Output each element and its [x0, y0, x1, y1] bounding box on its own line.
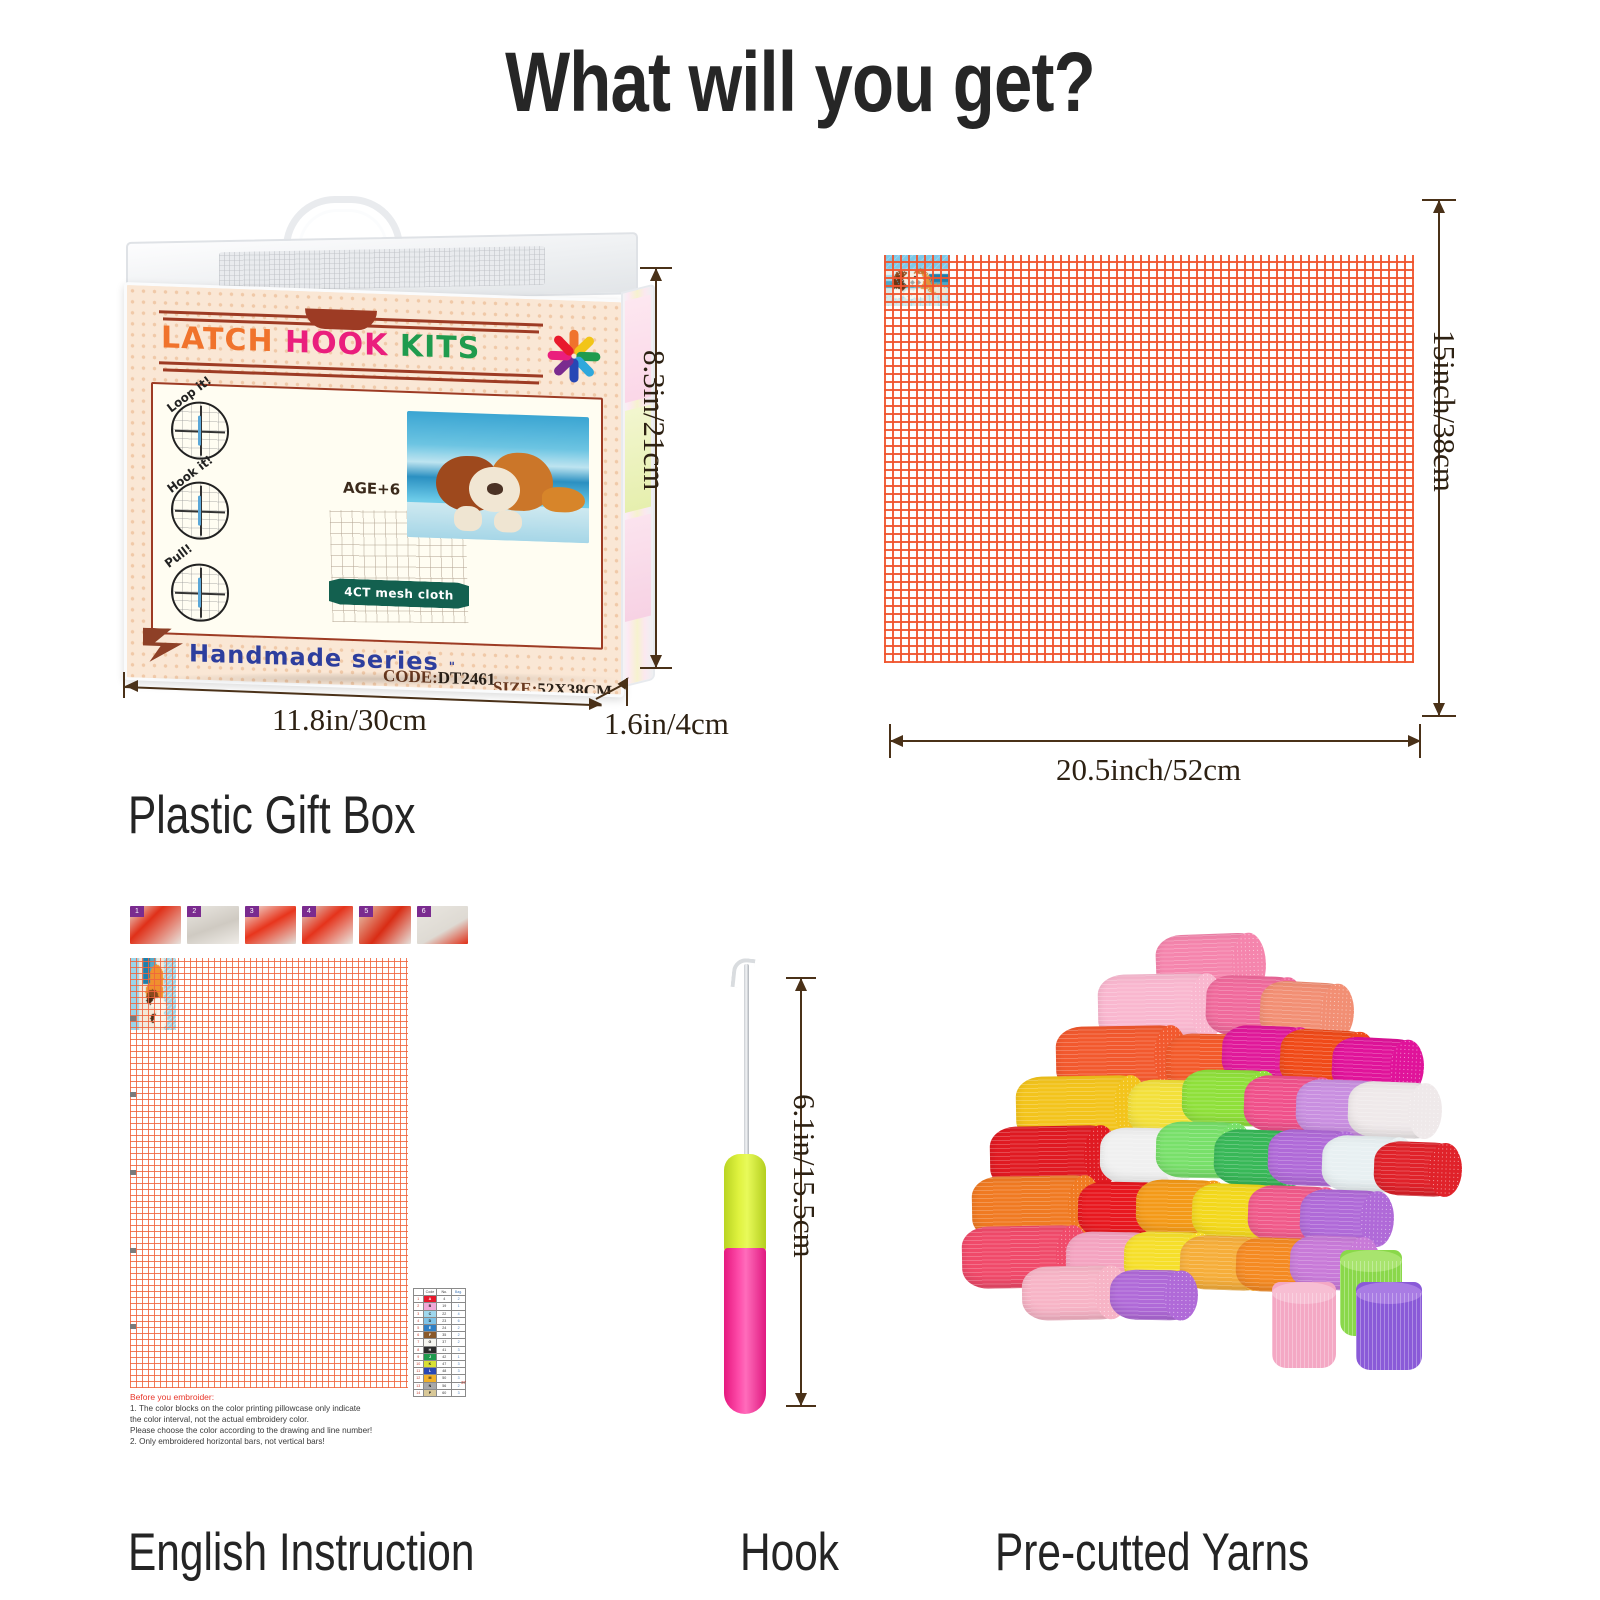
- hook-dim-arrow-bottom: [795, 1393, 807, 1406]
- tutorial-thumbnail: 22: [187, 906, 238, 944]
- hook-needle-shaft: [744, 964, 749, 1178]
- chart-ruler-mark: [130, 1170, 136, 1175]
- canvas-width-arrow-right: [1408, 735, 1421, 747]
- legend-header-index: [414, 1289, 424, 1296]
- box-depth-dim-label: 1.6in/4cm: [604, 706, 729, 742]
- before-notes-line: Please choose the color according to the…: [130, 1425, 408, 1436]
- tutorial-thumbnail-strip: 112233445566: [130, 906, 468, 950]
- box-height-arrow-bottom: [650, 655, 662, 668]
- thumbnail-step-badge: 5: [359, 906, 373, 917]
- legend-code-swatch: C: [423, 1310, 437, 1317]
- gift-box-caption: Plastic Gift Box: [128, 785, 415, 846]
- legend-index: 11: [414, 1368, 424, 1375]
- chart-ruler-mark: [130, 1324, 136, 1329]
- before-notes-line: 2. Only embroidered horizontal bars, not…: [130, 1436, 408, 1447]
- instruction-chart-grid: [130, 958, 408, 1388]
- hook-handle-upper: [724, 1154, 766, 1252]
- legend-code-swatch: F: [423, 1332, 437, 1339]
- chart-mesh-overlay: [130, 958, 408, 1388]
- legend-row: 7G372: [414, 1339, 466, 1346]
- legend-row: 4D236: [414, 1317, 466, 1324]
- legend-bag: 2: [452, 1332, 466, 1339]
- chart-ruler-mark: [130, 1248, 136, 1253]
- legend-row: 14P603: [414, 1389, 466, 1396]
- mesh-cloth-ribbon: 4CT mesh cloth: [329, 578, 469, 609]
- infographic-page: What will you get? LATCH HOOK KITS: [0, 0, 1600, 1600]
- legend-number: 35: [437, 1332, 452, 1339]
- english-instruction-sheet: 112233445566 Code No. Bag. 1A422B1913C22…: [128, 906, 468, 1498]
- hook-dim-arrow-top: [795, 978, 807, 991]
- step-pull: Pull!: [171, 563, 229, 623]
- tutorial-thumbnail: 11: [130, 906, 181, 944]
- legend-code-swatch: G: [423, 1339, 437, 1346]
- instruction-caption: English Instruction: [128, 1522, 474, 1583]
- canvas-mesh-grid: [884, 255, 1414, 663]
- finished-rug-photo: [407, 411, 589, 543]
- legend-number: 19: [437, 1303, 452, 1310]
- box-height-arrow-top: [650, 268, 662, 281]
- canvas-width-arrow-left: [890, 735, 903, 747]
- legend-index: 6: [414, 1332, 424, 1339]
- yarn-bundle: [1373, 1141, 1461, 1198]
- legend-code-swatch: L: [423, 1368, 437, 1375]
- age-rating-text: AGE+6 !: [343, 479, 412, 499]
- canvas-height-arrow-top: [1433, 200, 1445, 213]
- legend-row: 6F352: [414, 1332, 466, 1339]
- yarn-bundle: [1347, 1080, 1441, 1139]
- legend-bag: 3: [452, 1361, 466, 1368]
- hook-caption: Hook: [740, 1522, 839, 1583]
- page-title: What will you get?: [144, 34, 1456, 131]
- legend-number: 22: [437, 1310, 452, 1317]
- legend-index: 10: [414, 1361, 424, 1368]
- legend-row: 5E242: [414, 1325, 466, 1332]
- legend-row: 9J421: [414, 1353, 466, 1360]
- hook-handle-lower: [724, 1248, 766, 1414]
- legend-bag: 3: [452, 1389, 466, 1396]
- legend-number: 23: [437, 1317, 452, 1324]
- hook-dim-label: 6.1in/15.5cm: [786, 1094, 822, 1258]
- legend-bag: 2: [452, 1296, 466, 1303]
- step-loop-it: Loop it!: [171, 401, 229, 461]
- legend-bag: 3: [452, 1368, 466, 1375]
- legend-code-swatch: A: [423, 1296, 437, 1303]
- box-height-dim-label: 8.3in/21cm: [636, 350, 672, 490]
- canvas-height-dim-label: 15inch/38cm: [1426, 330, 1462, 492]
- legend-index: 8: [414, 1346, 424, 1353]
- legend-bag: 2: [452, 1325, 466, 1332]
- thumbnail-step-badge: 1: [130, 906, 144, 917]
- legend-bag: 1: [452, 1353, 466, 1360]
- legend-code-swatch: B: [423, 1303, 437, 1310]
- gift-box-illustration: LATCH HOOK KITS Loop it! Hook it!: [118, 196, 658, 696]
- yarns-caption: Pre-cutted Yarns: [995, 1522, 1309, 1583]
- thumbnail-step-badge: 3: [245, 906, 259, 917]
- legend-number: 48: [437, 1368, 452, 1375]
- legend-header-no: No.: [437, 1289, 452, 1296]
- box-width-arrow-left: [125, 680, 138, 692]
- legend-index: 9: [414, 1353, 424, 1360]
- legend-index: 5: [414, 1325, 424, 1332]
- legend-bag: 1: [452, 1303, 466, 1310]
- legend-bag: 4: [452, 1310, 466, 1317]
- before-notes-title: Before you embroider:: [130, 1392, 408, 1402]
- legend-code-swatch: J: [423, 1353, 437, 1360]
- legend-bag: 3: [452, 1346, 466, 1353]
- legend-index: 1: [414, 1296, 424, 1303]
- legend-number: 24: [437, 1325, 452, 1332]
- step-hook-it: Hook it!: [171, 481, 229, 541]
- legend-index: 3: [414, 1310, 424, 1317]
- tutorial-thumbnail: 44: [302, 906, 353, 944]
- thumbnail-step-badge: 2: [187, 906, 201, 917]
- brand-word-hook: HOOK: [285, 325, 388, 364]
- legend-number: 47: [437, 1361, 452, 1368]
- brand-header: LATCH HOOK KITS: [153, 308, 593, 385]
- legend-row: 1A42: [414, 1296, 466, 1303]
- thumbnail-step-badge: 4: [302, 906, 316, 917]
- legend-row: 11L483: [414, 1368, 466, 1375]
- legend-code-swatch: E: [423, 1325, 437, 1332]
- yarn-tube: [1272, 1282, 1336, 1368]
- instruction-panel: Loop it! Hook it! Pull! AGE+6 ! 4CT mesh…: [151, 382, 603, 650]
- legend-index: 14: [414, 1389, 424, 1396]
- legend-bag: 2: [452, 1339, 466, 1346]
- chart-ruler-mark: [130, 1092, 136, 1097]
- legend-row: 3C224: [414, 1310, 466, 1317]
- thumbnail-step-badge: 6: [417, 906, 431, 917]
- brand-word-latch: LATCH: [161, 320, 274, 359]
- legend-header-code: Code: [423, 1289, 437, 1296]
- legend-row: 8H413: [414, 1346, 466, 1353]
- legend-code-swatch: K: [423, 1361, 437, 1368]
- canvas-pixel-art: [884, 255, 950, 306]
- legend-row: 2B191: [414, 1303, 466, 1310]
- brand-word-kits: KITS: [400, 329, 480, 367]
- tutorial-thumbnail: 66: [417, 906, 468, 944]
- latch-hook-tool: [700, 958, 850, 1428]
- box-width-dim-label: 11.8in/30cm: [272, 702, 427, 738]
- box-drop-shadow: [148, 672, 618, 686]
- before-notes-line: the color interval, not the actual embro…: [130, 1414, 408, 1425]
- canvas-width-dim-line: [890, 740, 1420, 742]
- legend-index: 4: [414, 1317, 424, 1324]
- legend-code-swatch: D: [423, 1317, 437, 1324]
- legend-number: 60: [437, 1389, 452, 1396]
- legend-row: 10K473: [414, 1361, 466, 1368]
- legend-header-bag: Bag.: [452, 1289, 466, 1296]
- yarn-tube: [1356, 1282, 1422, 1370]
- pre-cut-yarn-pile: [960, 930, 1460, 1370]
- legend-index: 2: [414, 1303, 424, 1310]
- tutorial-thumbnail: 33: [245, 906, 296, 944]
- before-notes-line: 1. The color blocks on the color printin…: [130, 1403, 408, 1414]
- legend-number: 42: [437, 1353, 452, 1360]
- hook-barb-icon: [730, 957, 755, 989]
- legend-index: 7: [414, 1339, 424, 1346]
- pinwheel-logo-icon: [545, 324, 603, 384]
- box-front-face: LATCH HOOK KITS Loop it! Hook it!: [124, 282, 624, 697]
- chart-ruler-mark: [130, 1016, 136, 1021]
- canvas-width-dim-label: 20.5inch/52cm: [1056, 752, 1241, 788]
- legend-code-swatch: P: [423, 1389, 437, 1396]
- legend-header-row: Code No. Bag.: [414, 1289, 466, 1296]
- legend-code-swatch: H: [423, 1346, 437, 1353]
- legend-bag: 6: [452, 1317, 466, 1324]
- before-you-embroider-notes: Before you embroider: 1. The color block…: [130, 1392, 408, 1447]
- box-top-mesh-texture: [219, 246, 544, 291]
- printed-canvas: [884, 255, 1414, 663]
- legend-total-count: 37: [413, 1380, 466, 1385]
- canvas-height-arrow-bottom: [1433, 703, 1445, 716]
- legend-number: 4: [437, 1296, 452, 1303]
- yarn-bundle: [1110, 1269, 1197, 1320]
- tutorial-thumbnail: 55: [359, 906, 410, 944]
- legend-number: 41: [437, 1346, 452, 1353]
- legend-number: 37: [437, 1339, 452, 1346]
